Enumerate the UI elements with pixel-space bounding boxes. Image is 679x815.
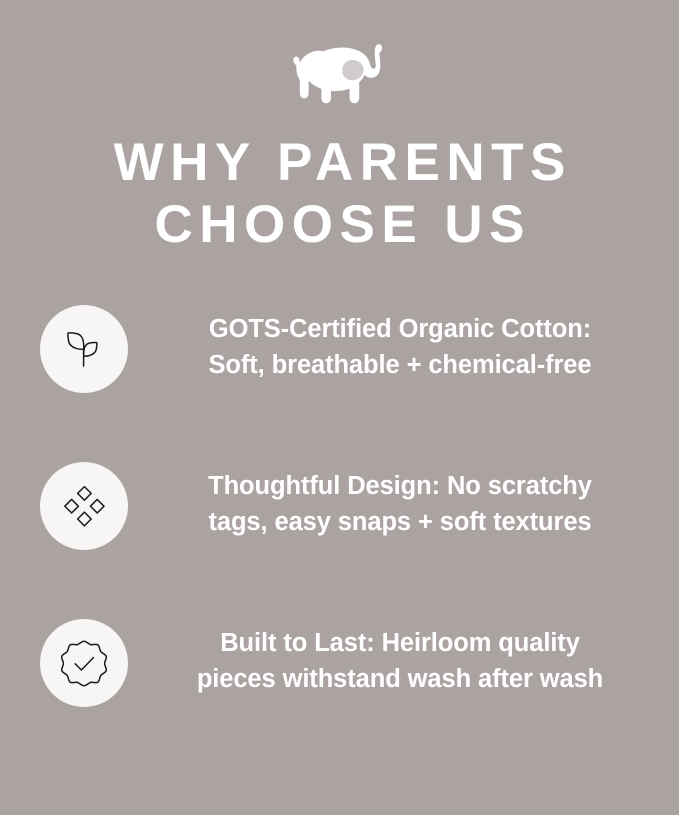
feature-list: GOTS-Certified Organic Cotton: Soft, bre… bbox=[0, 305, 679, 712]
feature-text-2-line-2: tags, easy snaps + soft textures bbox=[168, 504, 632, 540]
feature-text-3: Built to Last: Heirloom quality pieces w… bbox=[168, 625, 632, 697]
feature-icon-badge-3 bbox=[40, 619, 128, 707]
brand-logo bbox=[0, 38, 679, 114]
page-title: WHY PARENTS CHOOSE US bbox=[0, 132, 679, 256]
feature-row-thoughtful-design: Thoughtful Design: No scratchy tags, eas… bbox=[0, 462, 679, 555]
why-parents-choose-us-poster: WHY PARENTS CHOOSE US GOTS-Certified Org… bbox=[0, 0, 679, 815]
feature-text-3-line-2: pieces withstand wash after wash bbox=[168, 661, 632, 697]
feature-text-1-line-2: Soft, breathable + chemical-free bbox=[168, 347, 632, 383]
feature-text-1: GOTS-Certified Organic Cotton: Soft, bre… bbox=[168, 311, 632, 383]
elephant-icon bbox=[292, 40, 388, 112]
four-diamonds-snap-icon bbox=[61, 483, 107, 529]
page-title-line-2: CHOOSE US bbox=[0, 194, 679, 256]
feature-text-3-line-1: Built to Last: Heirloom quality bbox=[168, 625, 632, 661]
page-title-line-1: WHY PARENTS bbox=[0, 132, 679, 194]
sprout-leaf-icon bbox=[61, 326, 107, 372]
feature-row-built-to-last: Built to Last: Heirloom quality pieces w… bbox=[0, 619, 679, 712]
feature-text-2-line-1: Thoughtful Design: No scratchy bbox=[168, 468, 632, 504]
feature-text-2: Thoughtful Design: No scratchy tags, eas… bbox=[168, 468, 632, 540]
feature-row-organic-cotton: GOTS-Certified Organic Cotton: Soft, bre… bbox=[0, 305, 679, 398]
feature-icon-badge-2 bbox=[40, 462, 128, 550]
scalloped-check-badge-icon bbox=[59, 638, 109, 688]
feature-icon-badge-1 bbox=[40, 305, 128, 393]
feature-text-1-line-1: GOTS-Certified Organic Cotton: bbox=[168, 311, 632, 347]
